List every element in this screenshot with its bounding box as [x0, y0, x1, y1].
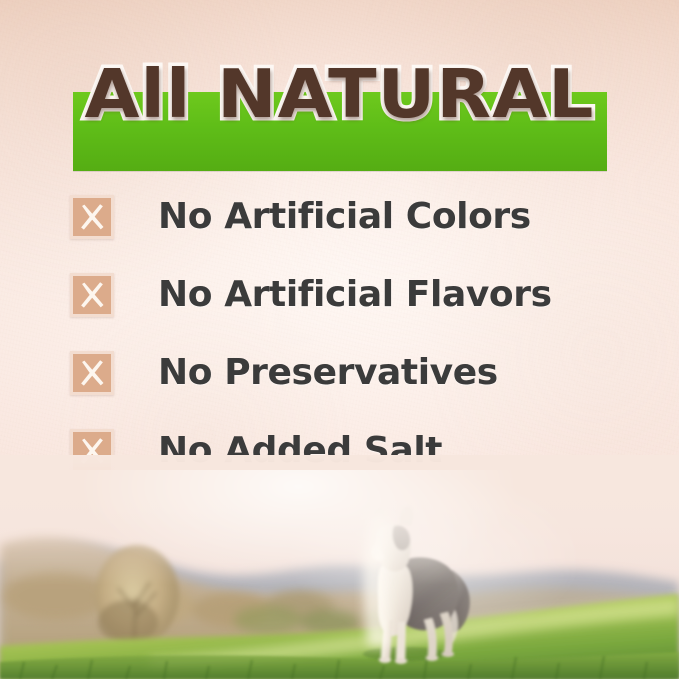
- list-item-label: No Artificial Colors: [158, 197, 531, 237]
- x-mark-icon: [70, 351, 114, 395]
- list-item: No Artificial Flavors: [70, 256, 630, 334]
- feature-list: No Artificial Colors No Artificial Flavo…: [70, 178, 630, 490]
- list-item: No Preservatives: [70, 334, 630, 412]
- list-item: No Artificial Colors: [70, 178, 630, 256]
- list-item-label: No Added Salt: [158, 431, 442, 471]
- x-mark-icon: [70, 273, 114, 317]
- x-mark-icon: [70, 195, 114, 239]
- x-mark-icon: [70, 429, 114, 473]
- headline-banner: All NATURAL: [0, 52, 679, 138]
- list-item-label: No Artificial Flavors: [158, 275, 552, 315]
- list-item-label: No Preservatives: [158, 353, 498, 393]
- headline-text: All NATURAL: [0, 52, 679, 136]
- all-natural-product-poster: All NATURAL No Artificial Colors No Arti…: [0, 0, 679, 679]
- landscape-dog-photo: [0, 470, 679, 679]
